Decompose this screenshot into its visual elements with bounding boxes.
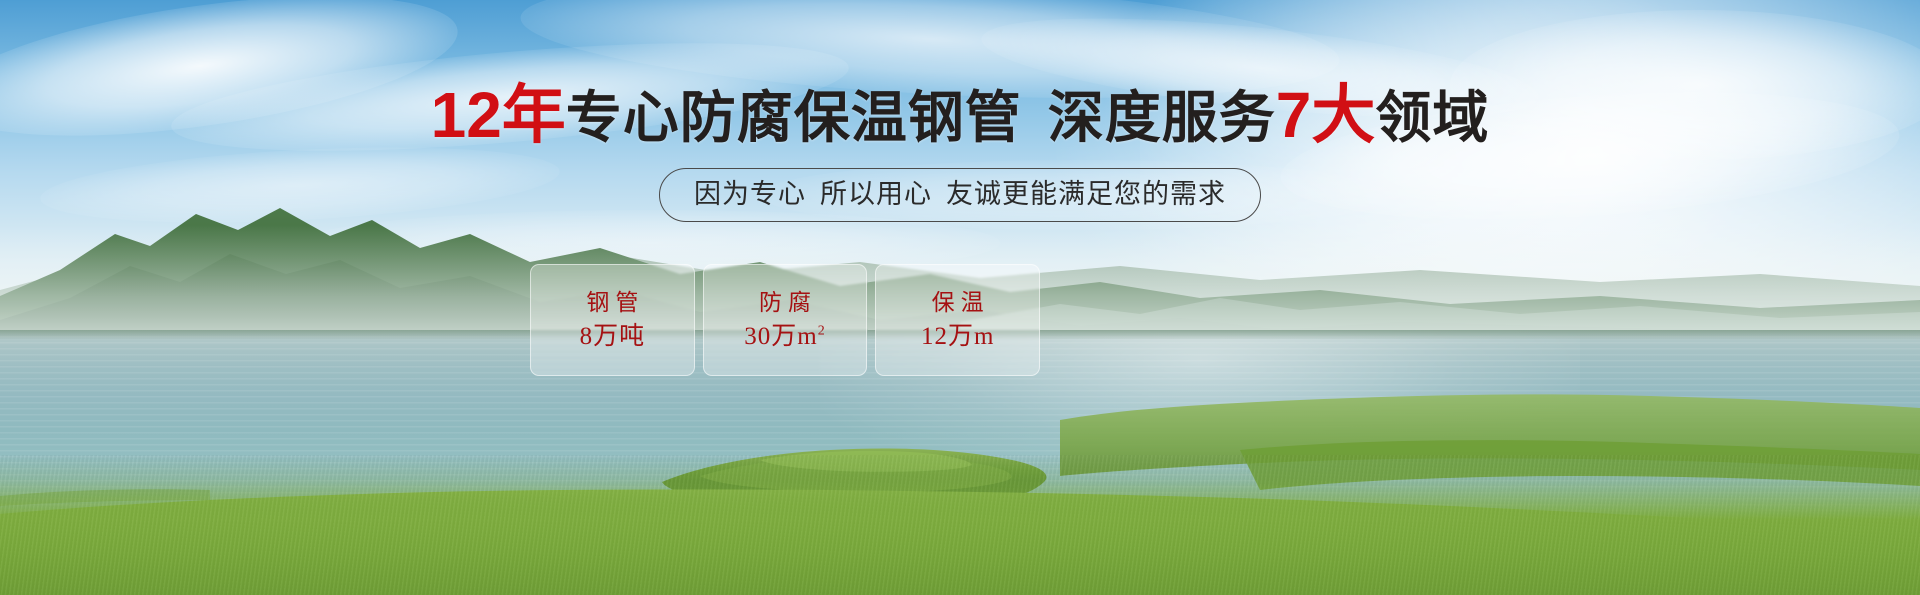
stat-value-text: 30万m <box>744 323 817 350</box>
headline-fields-unit: 大 <box>1311 79 1375 151</box>
subtitle-part-2: 所以用心 <box>820 179 932 209</box>
headline-main-text: 专心防腐保温钢管 <box>566 86 1022 149</box>
stat-value: 30万m2 <box>744 324 825 349</box>
stat-value-text: 12万m <box>921 323 994 350</box>
stat-label: 保温 <box>926 291 990 314</box>
stat-card-anticorrosion: 防腐 30万m2 <box>703 264 868 376</box>
stat-value: 8万吨 <box>580 324 646 349</box>
stat-value: 12万m <box>921 324 994 349</box>
grass-texture <box>0 455 1920 595</box>
headline-service-text: 深度服务 <box>1048 86 1276 149</box>
subtitle-pill: 因为专心所以用心友诚更能满足您的需求 <box>659 168 1261 222</box>
subtitle-container: 因为专心所以用心友诚更能满足您的需求 <box>0 168 1920 222</box>
stat-card-steel-pipe: 钢管 8万吨 <box>530 264 695 376</box>
headline-fields-text: 领域 <box>1375 86 1489 149</box>
stat-label: 钢管 <box>580 291 644 314</box>
stat-card-group: 钢管 8万吨 防腐 30万m2 保温 12万m <box>530 264 1040 376</box>
headline-years-unit: 年 <box>502 79 566 151</box>
page-title: 12年专心防腐保温钢管深度服务7大领域 <box>0 83 1920 147</box>
stat-value-text: 8万吨 <box>580 323 646 350</box>
hero-banner: 12年专心防腐保温钢管深度服务7大领域 因为专心所以用心友诚更能满足您的需求 钢… <box>0 0 1920 595</box>
stat-label: 防腐 <box>753 291 817 314</box>
stat-value-superscript: 2 <box>818 324 826 339</box>
subtitle-part-1: 因为专心 <box>694 179 806 209</box>
headline-fields-number: 7 <box>1276 79 1312 151</box>
headline-years-number: 12 <box>431 79 502 151</box>
subtitle-part-3: 友诚更能满足您的需求 <box>946 179 1226 209</box>
stat-card-insulation: 保温 12万m <box>875 264 1040 376</box>
